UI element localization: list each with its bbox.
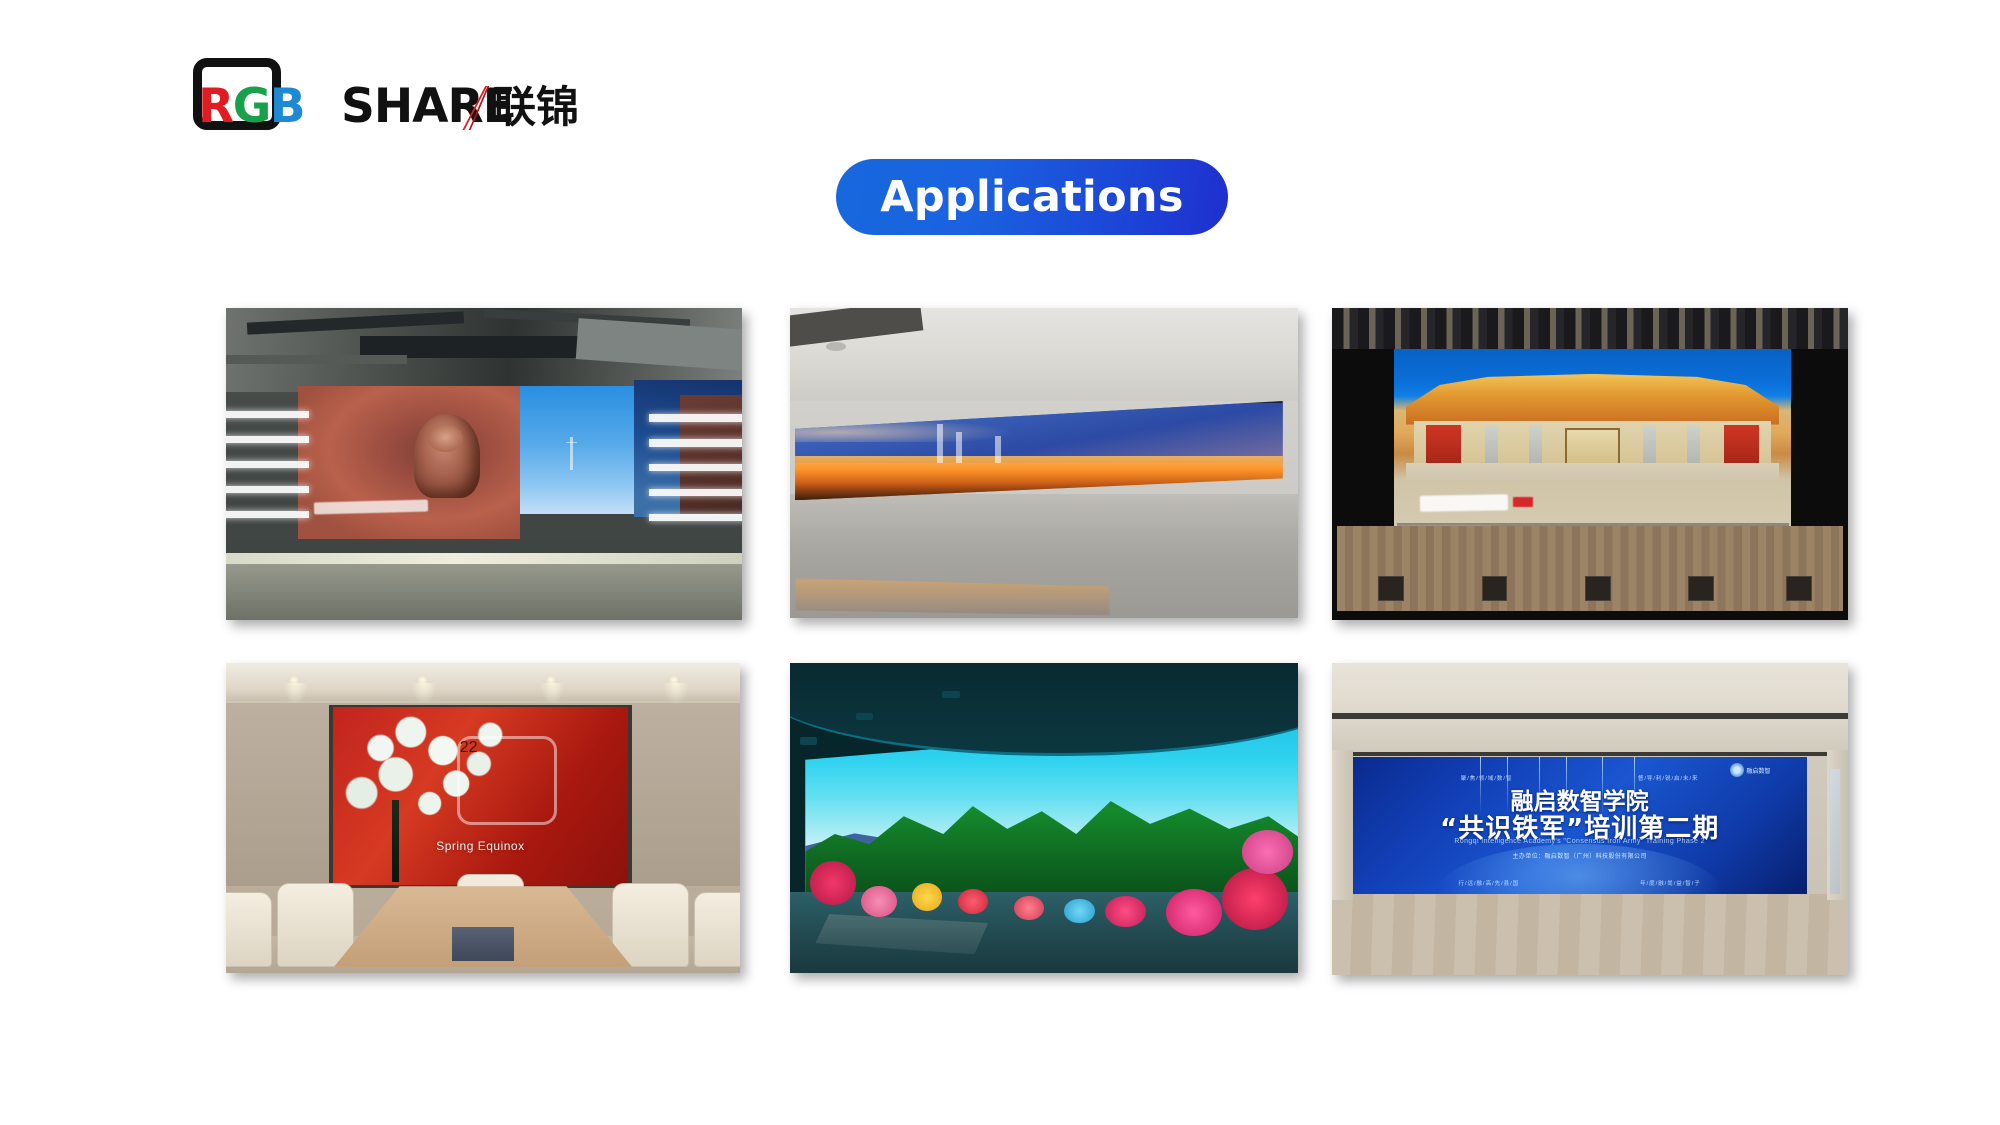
gallery-item-led-conference-room[interactable]: 22 Spring Equinox bbox=[226, 663, 740, 973]
banner-bottom-tagline-row: 行/远/融/高/先/县/国 年/度/融/尚/益/智/子 bbox=[1398, 879, 1761, 887]
skyline-tower bbox=[995, 436, 1001, 463]
conference-chair bbox=[226, 892, 272, 966]
flower-cluster bbox=[1242, 830, 1293, 873]
spotlight-glow bbox=[283, 683, 309, 705]
screen-text-spring-equinox: Spring Equinox bbox=[398, 839, 563, 853]
ceiling-fixture bbox=[800, 737, 817, 744]
flower-cluster bbox=[1105, 896, 1146, 927]
stage-vent bbox=[1688, 576, 1714, 601]
light-rail bbox=[649, 514, 742, 521]
lobby-ceiling bbox=[1332, 663, 1848, 757]
photo-led-training-banner: 融启数智 聚/焦/领/域/数/智 督/导/利/锐/启/未/来 融启数智学院 “共… bbox=[1332, 663, 1848, 975]
table-pad bbox=[452, 927, 514, 961]
screen-bezel: 22 Spring Equinox bbox=[329, 705, 632, 888]
conference-chair bbox=[277, 883, 354, 967]
light-rail bbox=[226, 436, 309, 443]
flower-cluster bbox=[1064, 899, 1094, 924]
flower-cluster bbox=[1222, 868, 1288, 930]
screen-reflection bbox=[795, 578, 1110, 615]
stage-vent bbox=[1585, 576, 1611, 601]
stage-vent bbox=[1378, 576, 1404, 601]
gallery-item-led-curved-city-skyline[interactable] bbox=[790, 308, 1298, 618]
sunset-glow bbox=[795, 418, 1014, 442]
gallery-item-led-training-banner[interactable]: 融启数智 聚/焦/领/域/数/智 督/导/利/锐/启/未/来 融启数智学院 “共… bbox=[1332, 663, 1848, 975]
spotlight-glow bbox=[411, 683, 437, 705]
photo-led-conference-room: 22 Spring Equinox bbox=[226, 663, 740, 973]
photo-led-industrial-hall bbox=[226, 308, 742, 620]
light-rail bbox=[226, 511, 309, 518]
wall-column bbox=[1332, 750, 1353, 900]
gallery-item-led-stage-temple[interactable] bbox=[1332, 308, 1848, 620]
led-video-wall bbox=[795, 401, 1283, 500]
buddha-carving bbox=[414, 414, 481, 498]
floor-reflection-area bbox=[790, 494, 1298, 618]
light-rail bbox=[226, 411, 309, 418]
gallery-item-led-curved-mountain-wall[interactable] bbox=[790, 663, 1298, 973]
photo-led-stage-temple bbox=[1332, 308, 1848, 620]
led-meeting-screen: 22 Spring Equinox bbox=[333, 707, 628, 885]
stage-vent bbox=[1482, 576, 1508, 601]
ceiling-duct bbox=[226, 355, 407, 364]
light-rail bbox=[226, 486, 309, 493]
skyline-tower bbox=[956, 432, 962, 463]
buddha-face bbox=[428, 425, 463, 452]
temple-roof bbox=[1406, 374, 1779, 425]
banner-micro-tagline-row: 聚/焦/领/域/数/智 督/导/利/锐/启/未/来 bbox=[1398, 774, 1761, 782]
photo-led-curved-city-skyline bbox=[790, 308, 1298, 618]
light-rail bbox=[649, 439, 742, 446]
photo-led-curved-mountain-wall bbox=[790, 663, 1298, 973]
light-rail bbox=[226, 461, 309, 468]
led-panel-left bbox=[298, 386, 520, 539]
banner-host-line: 主办单位：融启数智（广州）科技股份有限公司 bbox=[1380, 851, 1780, 860]
screen-base-light bbox=[226, 553, 742, 564]
conference-chair bbox=[612, 883, 689, 967]
wall-side-panel bbox=[1830, 769, 1840, 894]
stage-vent bbox=[1786, 576, 1812, 601]
banner-micro-left: 聚/焦/领/域/数/智 bbox=[1461, 774, 1513, 782]
ceiling-beam bbox=[1332, 713, 1848, 719]
conference-chair bbox=[694, 892, 740, 966]
temple-courtyard bbox=[1406, 463, 1779, 481]
slide-root: RGB SHARE 联锦 Applications bbox=[0, 0, 2000, 1125]
spotlight-glow bbox=[663, 683, 689, 705]
led-panel-center-sky bbox=[520, 386, 634, 514]
ceiling-fixture bbox=[942, 691, 959, 698]
flower-cluster bbox=[958, 889, 988, 914]
light-rail bbox=[649, 489, 742, 496]
flower-cluster bbox=[1166, 889, 1222, 936]
screen-title-overlay bbox=[1420, 494, 1508, 511]
stage-truss bbox=[1332, 308, 1848, 349]
light-rail bbox=[649, 414, 742, 421]
banner-title: 融启数智学院 “共识铁军”培训第二期 bbox=[1380, 790, 1780, 845]
banner-micro-right: 督/导/利/锐/启/未/来 bbox=[1638, 774, 1699, 782]
application-gallery: 22 Spring Equinox bbox=[0, 0, 2000, 1125]
light-rail bbox=[649, 464, 742, 471]
screen-number-22: 22 bbox=[457, 736, 557, 825]
floor bbox=[226, 564, 742, 620]
curved-ceiling bbox=[790, 663, 1298, 756]
banner-bottom-right: 年/度/融/尚/益/智/子 bbox=[1640, 879, 1701, 887]
screen-title-badge bbox=[1513, 497, 1534, 507]
flower-cluster bbox=[1014, 896, 1044, 921]
flower-cluster bbox=[861, 886, 897, 917]
led-banner-screen: 融启数智 聚/焦/领/域/数/智 督/导/利/锐/启/未/来 融启数智学院 “共… bbox=[1353, 757, 1807, 894]
gallery-item-led-industrial-hall[interactable] bbox=[226, 308, 742, 620]
lobby-floor bbox=[1332, 894, 1848, 975]
flower-cluster bbox=[810, 861, 856, 904]
sky-tower-detail bbox=[570, 437, 573, 470]
skyline-tower bbox=[937, 424, 943, 463]
spotlight-glow bbox=[540, 683, 566, 705]
banner-title-line1: 融启数智学院 bbox=[1380, 790, 1780, 816]
banner-bottom-left: 行/远/融/高/先/县/国 bbox=[1459, 879, 1520, 887]
ceiling-fixture bbox=[856, 713, 873, 720]
ceiling-beam bbox=[1332, 752, 1848, 756]
banner-subtitle-en: Rongqi Intelligence Academy's "Consensus… bbox=[1380, 838, 1780, 845]
skyline-sky bbox=[795, 403, 1283, 463]
